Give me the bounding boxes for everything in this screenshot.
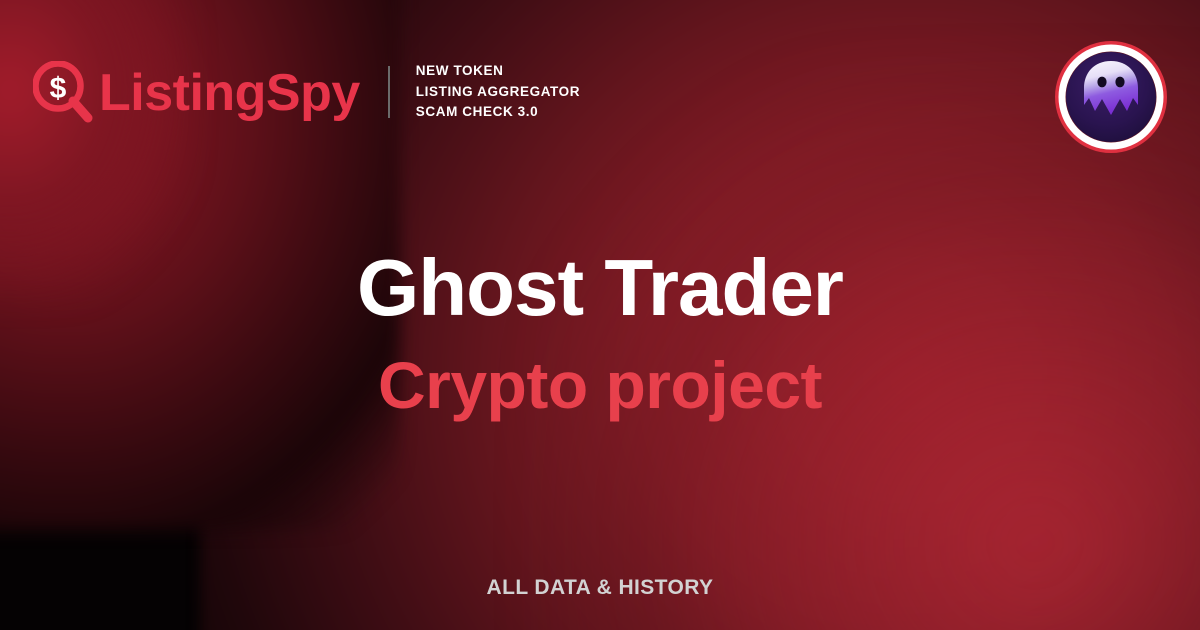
tagline-line-1: NEW TOKEN: [416, 61, 580, 82]
brand-tagline: NEW TOKEN LISTING AGGREGATOR SCAM CHECK …: [416, 61, 580, 123]
brand-lockup[interactable]: $ ListingSpy: [33, 54, 360, 130]
page-subtitle: Crypto project: [0, 352, 1200, 418]
ghost-avatar-icon[interactable]: [1055, 41, 1167, 153]
magnifier-dollar-icon: $: [33, 61, 93, 123]
header-divider: [388, 66, 390, 118]
svg-text:$: $: [50, 72, 67, 105]
page-title: Ghost Trader: [0, 248, 1200, 328]
hero-block: Ghost Trader Crypto project: [0, 248, 1200, 418]
banner-canvas: $ ListingSpy NEW TOKEN LISTING AGGREGATO…: [0, 0, 1200, 630]
tagline-line-3: SCAM CHECK 3.0: [416, 102, 580, 123]
tagline-line-2: LISTING AGGREGATOR: [416, 82, 580, 103]
brand-header[interactable]: $ ListingSpy NEW TOKEN LISTING AGGREGATO…: [33, 54, 580, 130]
brand-name: ListingSpy: [99, 67, 360, 119]
footer-caption: ALL DATA & HISTORY: [0, 576, 1200, 600]
